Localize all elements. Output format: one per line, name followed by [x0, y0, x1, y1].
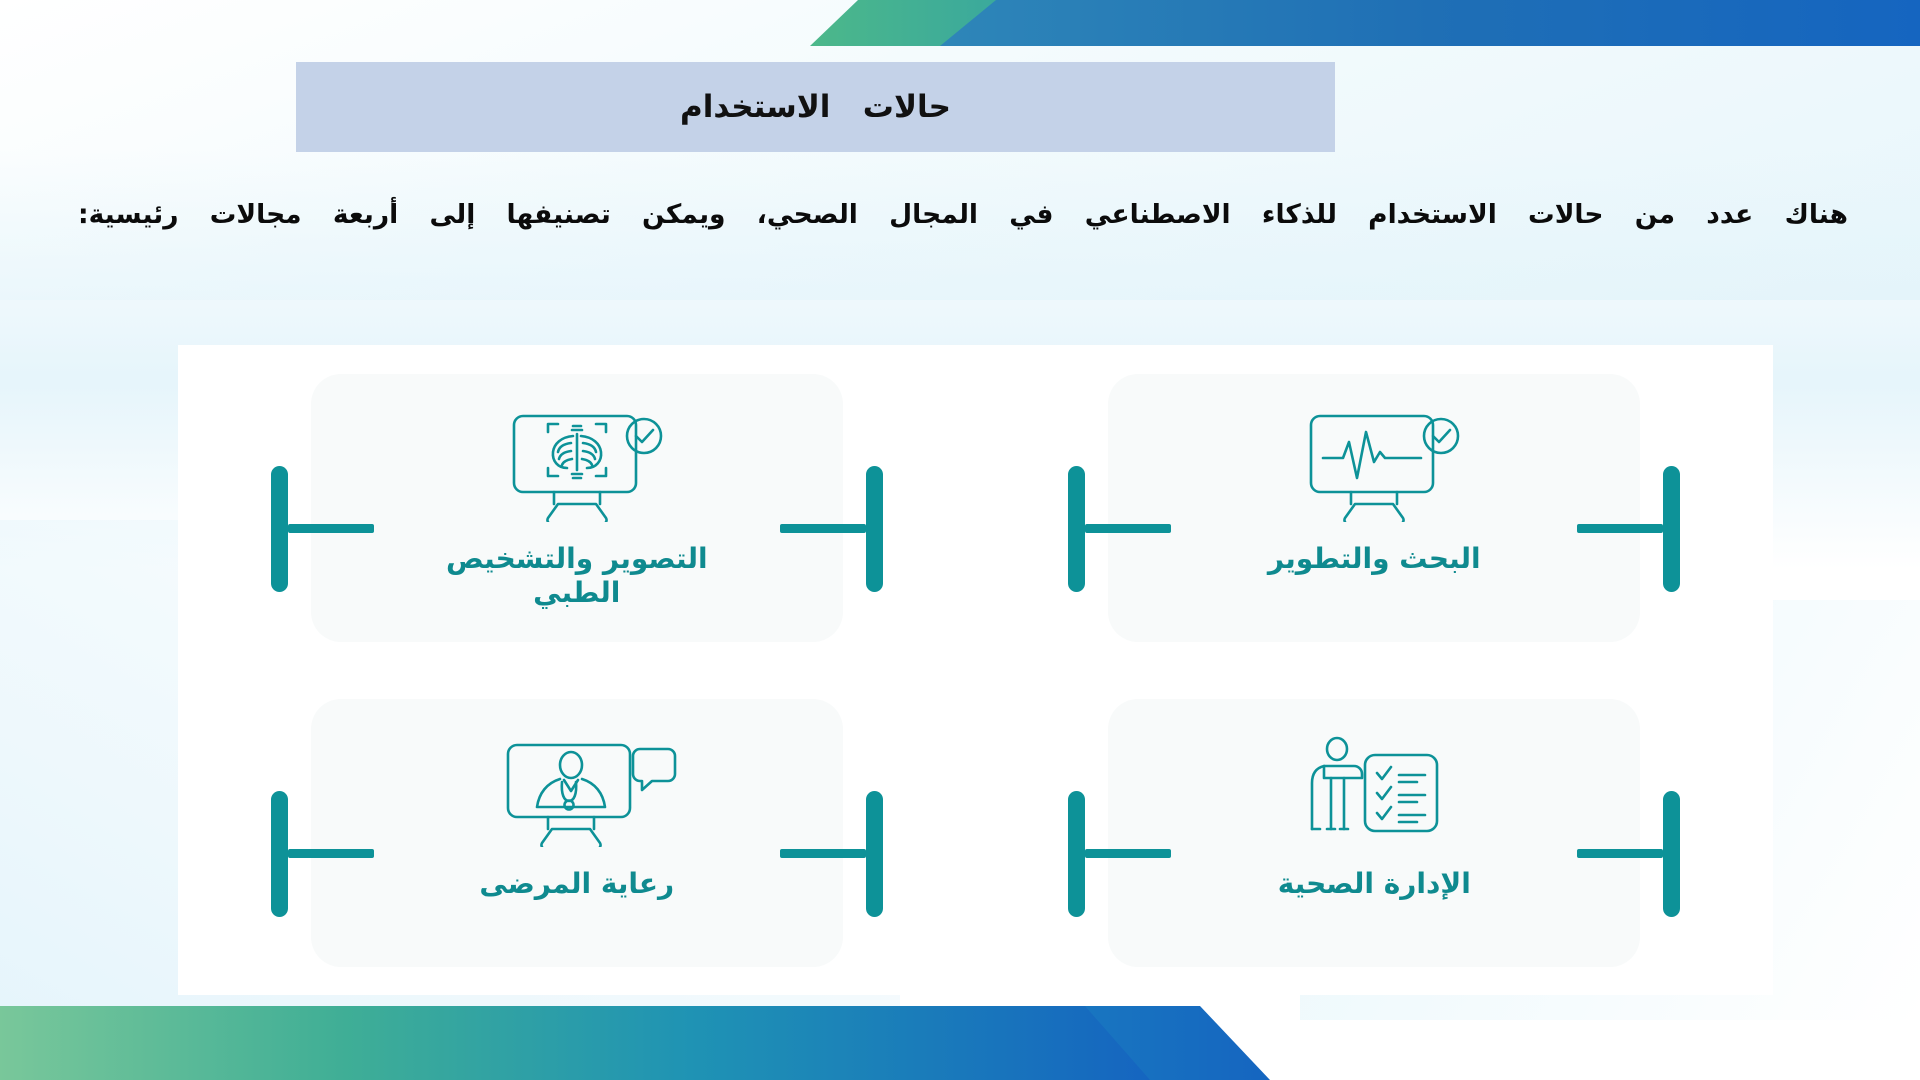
connector-line-left	[288, 524, 374, 533]
monitor-heartbeat-check-icon	[1258, 410, 1490, 522]
capsule-bar-right	[1663, 466, 1680, 592]
connector-line-left	[1085, 524, 1171, 533]
card-flank-left	[1068, 466, 1186, 592]
use-case-card-label: رعاية المرضى	[367, 867, 787, 901]
card-flank-right	[1562, 466, 1680, 592]
card-flank-left	[1068, 791, 1186, 917]
use-case-card-research-development[interactable]: البحث والتطوير	[1108, 374, 1640, 642]
use-case-card-patient-care[interactable]: رعاية المرضى	[311, 699, 843, 967]
capsule-bar-left	[271, 466, 288, 592]
card-flank-right	[765, 466, 883, 592]
use-cases-grid: التصوير والتشخيص الطبي	[178, 345, 1773, 995]
bottom-left-ribbon-inner	[0, 1006, 1150, 1080]
connector-line-left	[1085, 849, 1171, 858]
use-cases-panel: التصوير والتشخيص الطبي	[178, 345, 1773, 995]
capsule-bar-left	[1068, 466, 1085, 592]
connector-line-left	[288, 849, 374, 858]
card-flank-right	[765, 791, 883, 917]
slide-title-bar: حالات الاستخدام	[296, 62, 1335, 152]
use-case-card-health-administration[interactable]: الإدارة الصحية	[1108, 699, 1640, 967]
monitor-doctor-chat-icon	[461, 735, 693, 847]
body-paragraph: هناك عدد من حالات الاستخدام للذكاء الاصط…	[78, 197, 1848, 233]
card-slot-research: البحث والتطوير	[976, 345, 1774, 670]
connector-line-right	[1577, 524, 1663, 533]
capsule-bar-left	[271, 791, 288, 917]
card-slot-health-admin: الإدارة الصحية	[976, 670, 1774, 995]
card-flank-left	[271, 466, 389, 592]
capsule-bar-right	[866, 466, 883, 592]
connector-line-right	[780, 849, 866, 858]
use-case-card-label: البحث والتطوير	[1164, 542, 1584, 576]
connector-line-right	[780, 524, 866, 533]
use-case-card-medical-imaging-diagnosis[interactable]: التصوير والتشخيص الطبي	[311, 374, 843, 642]
top-right-ribbon-inner	[940, 0, 1920, 46]
capsule-bar-right	[1663, 791, 1680, 917]
page-title: حالات الاستخدام	[680, 89, 951, 125]
person-clipboard-checklist-icon	[1258, 735, 1490, 847]
capsule-bar-left	[1068, 791, 1085, 917]
card-slot-patient-care: رعاية المرضى	[178, 670, 976, 995]
use-case-card-label: التصوير والتشخيص الطبي	[367, 542, 787, 610]
capsule-bar-right	[866, 791, 883, 917]
use-case-card-label: الإدارة الصحية	[1164, 867, 1584, 901]
card-slot-imaging: التصوير والتشخيص الطبي	[178, 345, 976, 670]
monitor-xray-ribcage-check-icon	[461, 410, 693, 522]
card-flank-left	[271, 791, 389, 917]
card-flank-right	[1562, 791, 1680, 917]
connector-line-right	[1577, 849, 1663, 858]
